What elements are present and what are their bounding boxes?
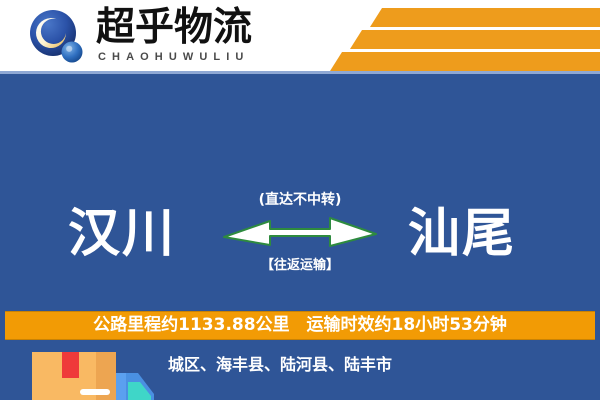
route-middle-block: (直达不中转) 【往返运输】 <box>222 184 378 294</box>
brand-name-en: CHAOHUWULIU <box>96 50 271 64</box>
brand-name-cn: 超乎物流 <box>96 6 271 50</box>
brand-wordmark: 超乎物流 CHAOHUWULIU <box>96 6 271 68</box>
route-row: 汉川 (直达不中转) 【往返运输】 汕尾 <box>0 184 600 294</box>
banner-header: 超乎物流 CHAOHUWULIU <box>0 0 600 71</box>
brand-logo-icon <box>26 9 88 65</box>
distance-duration-band: 公路里程约1133.88公里 运输时效约18小时53分钟 <box>5 311 595 340</box>
decorative-stripes-icon <box>330 0 600 71</box>
double-headed-arrow-icon <box>222 212 378 252</box>
direct-service-note: (直达不中转) <box>222 189 378 209</box>
origin-city: 汉川 <box>32 184 212 284</box>
delivery-truck-icon <box>24 346 169 400</box>
destination-city: 汕尾 <box>372 184 552 284</box>
route-panel: 汉川 (直达不中转) 【往返运输】 汕尾 公路里程约1133.88公里 运输时效… <box>0 74 600 400</box>
round-trip-note: 【往返运输】 <box>222 254 378 273</box>
logistics-route-banner: 超乎物流 CHAOHUWULIU 汉川 (直达不中转) 【往返运 <box>0 0 600 400</box>
coverage-areas-text: 城区、海丰县、陆河县、陆丰市 <box>168 352 588 378</box>
